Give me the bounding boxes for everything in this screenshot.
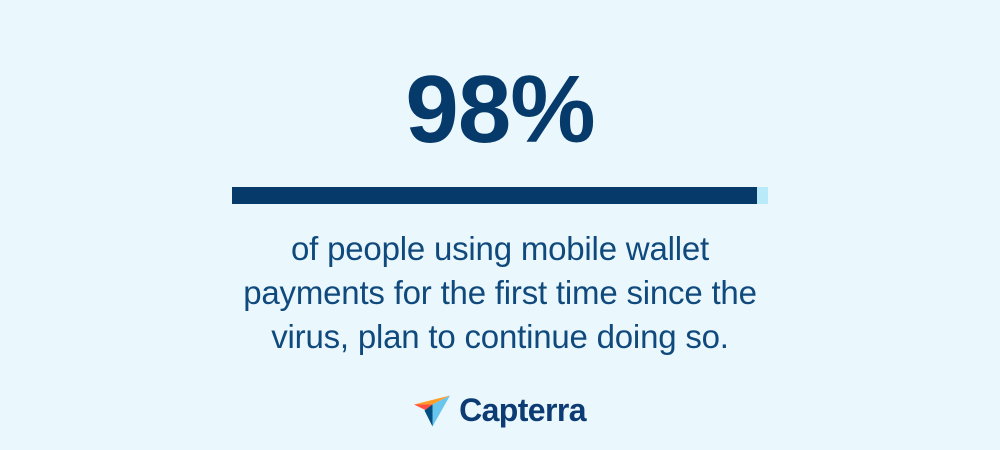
capterra-logo: Capterra [414, 392, 586, 428]
progress-bar-fill [232, 187, 757, 204]
description-text: of people using mobile wallet payments f… [190, 227, 810, 360]
description-line-1: of people using mobile wallet [190, 227, 810, 271]
progress-bar-track [232, 187, 768, 204]
capterra-arrow-icon [414, 392, 452, 428]
stat-infographic-card: 98% of people using mobile wallet paymen… [0, 0, 1000, 450]
description-line-2: payments for the first time since the [190, 271, 810, 315]
capterra-wordmark: Capterra [459, 394, 586, 426]
headline-stat-value: 98% [405, 58, 594, 162]
description-line-3: virus, plan to continue doing so. [190, 315, 810, 359]
